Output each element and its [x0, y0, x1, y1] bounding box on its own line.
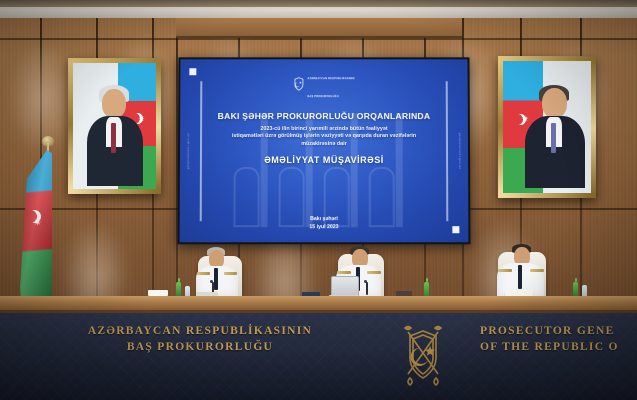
- logo-line-1: AZƏRBAYCAN RESPUBLİKASININ: [307, 77, 354, 80]
- slide: AZƏRBAYCAN RESPUBLİKASININ BAŞ PROKURORL…: [180, 59, 469, 242]
- wall-upper-section: [176, 18, 462, 38]
- slide-watermark-left: genprosecutor.gov.az: [186, 132, 190, 168]
- panel-en-line-2: OF THE REPUBLIC O: [480, 339, 637, 355]
- slide-watermark-right: genprosecutor.gov.az: [458, 132, 462, 168]
- logo-line-2: BAŞ PROKURORLUĞU: [307, 95, 339, 98]
- panel-text-azerbaijani: AZƏRBAYCAN RESPUBLİKASININ BAŞ PROKURORL…: [60, 323, 340, 355]
- panel-az-line-2: BAŞ PROKURORLUĞU: [60, 339, 340, 355]
- slide-corner-mark: [189, 68, 196, 75]
- portrait-ilham-aliyev: ✴: [498, 56, 596, 198]
- slide-date: 15 iyul 2023: [180, 224, 469, 231]
- portrait-heydar-aliyev: ✴: [68, 58, 161, 194]
- ceiling-trim: [0, 0, 637, 7]
- slide-event-type: ƏMƏLİYYAT MÜŞAVİRƏSİ: [204, 155, 444, 165]
- panel-text-english: PROSECUTOR GENE OF THE REPUBLIC O: [480, 323, 637, 355]
- prosecutor-emblem-icon: [293, 77, 304, 91]
- panel-en-line-1: PROSECUTOR GENE: [480, 323, 637, 339]
- slide-subtitle-line-3: müzakirəsinə dair: [204, 141, 444, 148]
- slide-footer: Bakı şəhəri 15 iyul 2023: [180, 216, 469, 231]
- slide-city: Bakı şəhəri: [180, 216, 469, 223]
- projection-screen: AZƏRBAYCAN RESPUBLİKASININ BAŞ PROKURORL…: [178, 57, 471, 244]
- conference-hall-photo: ✴ ✴: [0, 0, 637, 400]
- prosecutor-logo: AZƏRBAYCAN RESPUBLİKASININ BAŞ PROKURORL…: [293, 66, 354, 102]
- slide-body: BAKI ŞƏHƏR PROKURORLUĞU ORQANLARINDA 202…: [180, 111, 468, 165]
- panel-az-line-1: AZƏRBAYCAN RESPUBLİKASININ: [60, 323, 340, 339]
- prosecutor-general-emblem-icon: [398, 322, 448, 388]
- slide-subtitle-line-2: istiqamətləri üzrə görülmüş işlərin vəzi…: [204, 133, 444, 140]
- slide-heading: BAKI ŞƏHƏR PROKURORLUĞU ORQANLARINDA: [204, 111, 444, 121]
